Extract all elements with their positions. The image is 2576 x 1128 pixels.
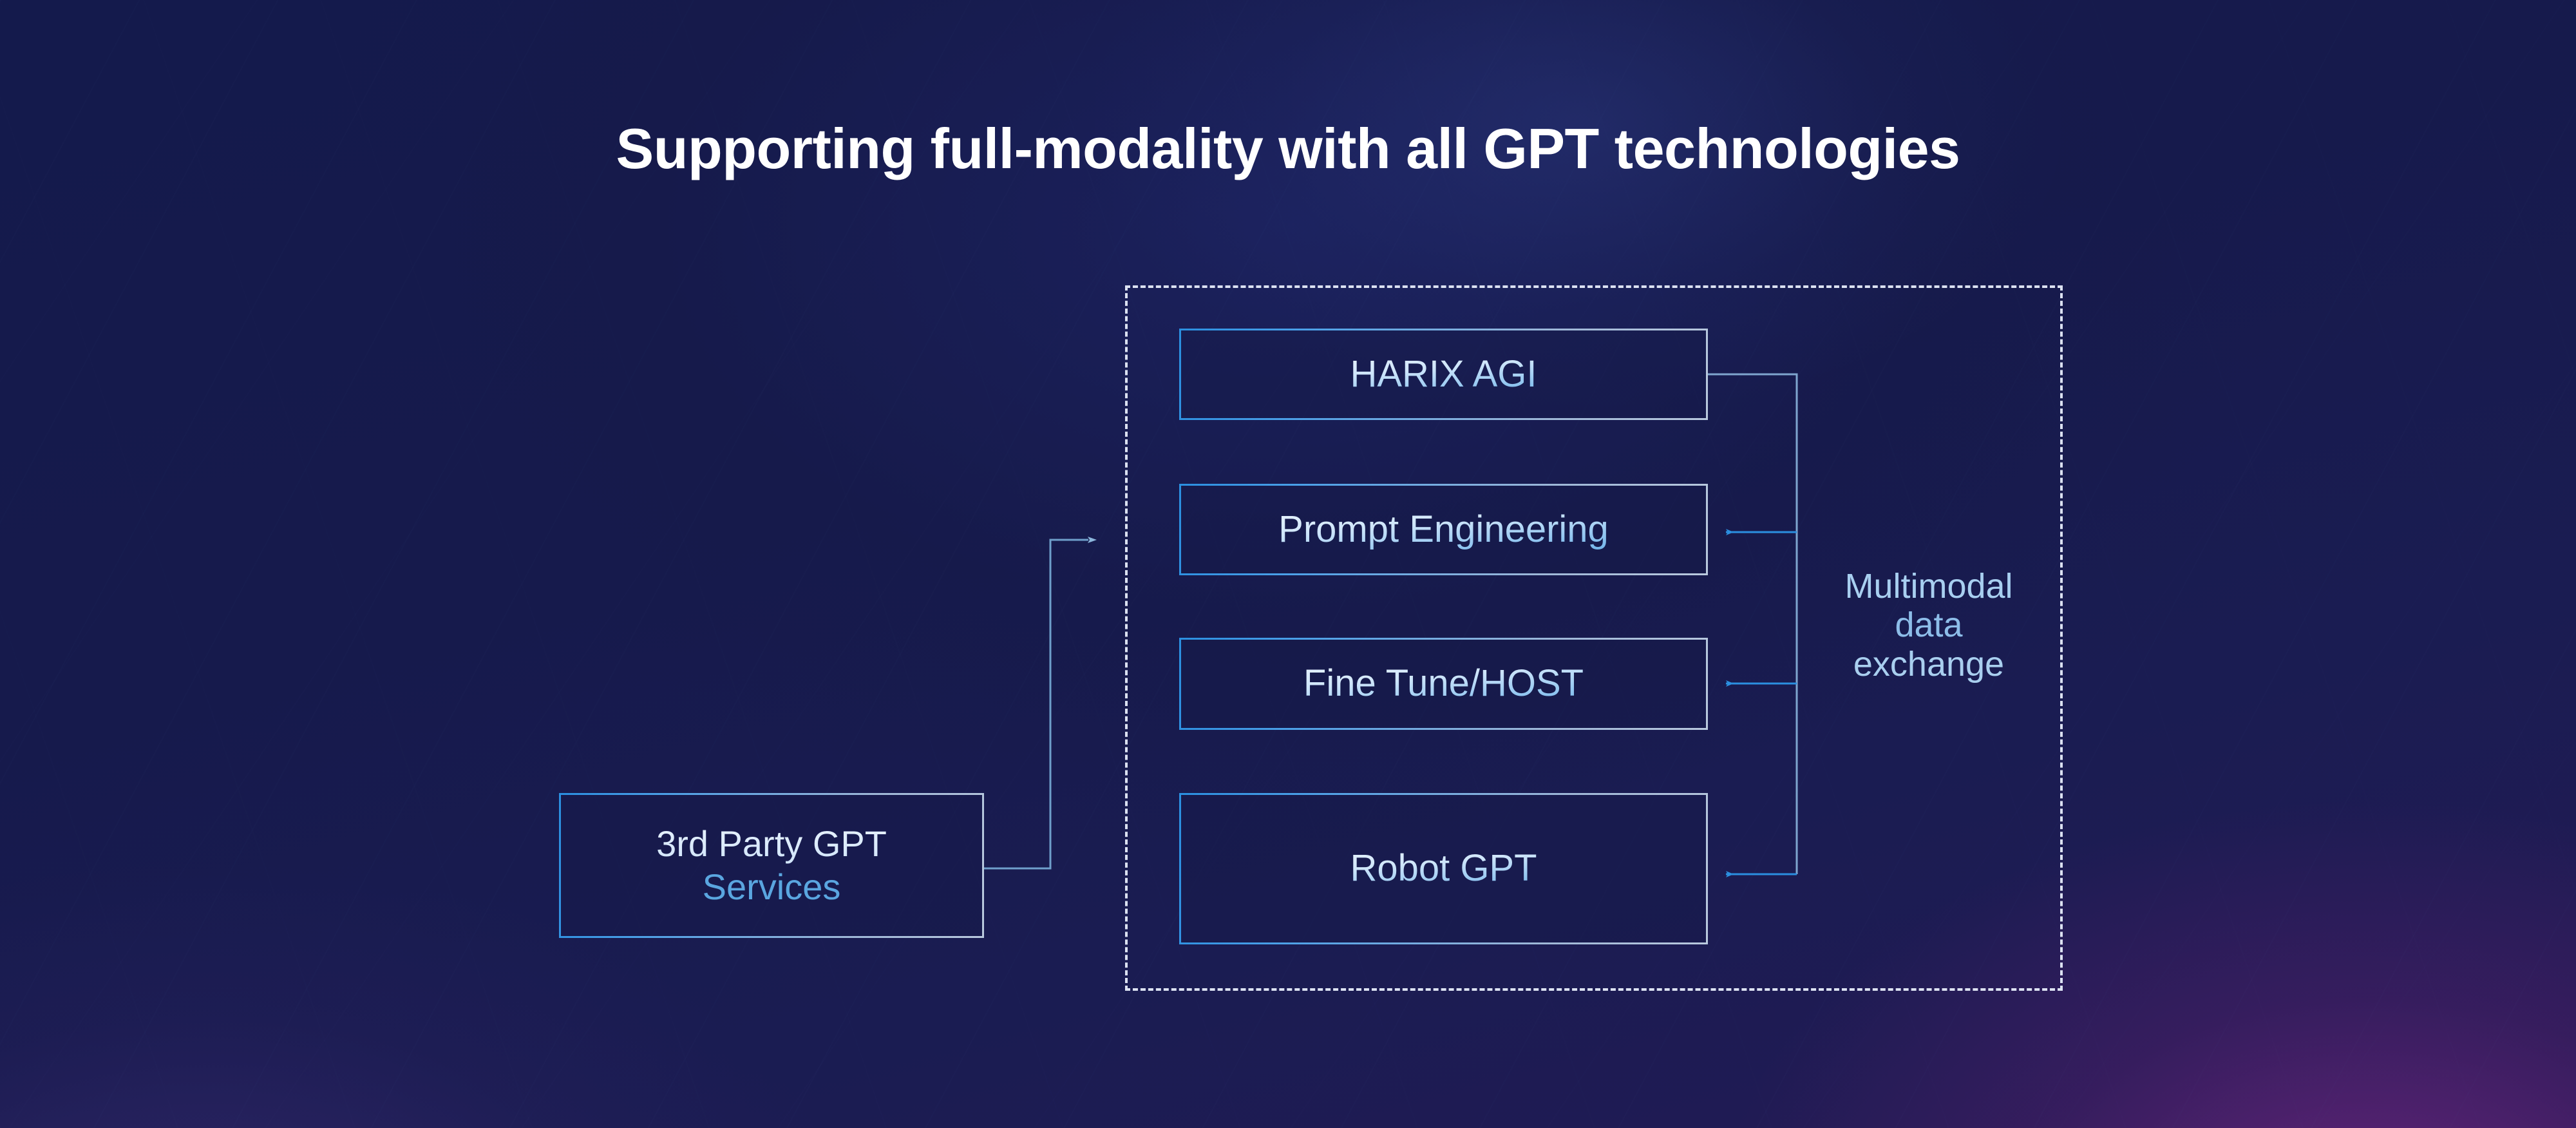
multimodal-label-line3: exchange [1803, 645, 2054, 683]
node-harix-agi[interactable]: HARIX AGI [1179, 329, 1708, 420]
node-third-party-line2: Services [703, 866, 841, 908]
node-harix-agi-label: HARIX AGI [1350, 352, 1537, 396]
multimodal-data-exchange-label: Multimodal data exchange [1803, 567, 2054, 683]
slide-canvas: Supporting full-modality with all GPT te… [0, 0, 2576, 1128]
node-prompt-engineering[interactable]: Prompt Engineering [1179, 484, 1708, 575]
page-title: Supporting full-modality with all GPT te… [0, 116, 2576, 182]
multimodal-label-line1: Multimodal [1803, 567, 2054, 606]
node-fine-tune-host-label: Fine Tune/HOST [1303, 662, 1584, 705]
multimodal-label-line2: data [1803, 606, 2054, 644]
node-robot-gpt[interactable]: Robot GPT [1179, 793, 1708, 944]
node-robot-gpt-label: Robot GPT [1350, 846, 1537, 890]
node-prompt-engineering-label: Prompt Engineering [1278, 508, 1609, 551]
node-third-party-line1: 3rd Party GPT [656, 823, 887, 865]
node-fine-tune-host[interactable]: Fine Tune/HOST [1179, 638, 1708, 730]
node-third-party-gpt-services[interactable]: 3rd Party GPT Services [559, 793, 984, 938]
